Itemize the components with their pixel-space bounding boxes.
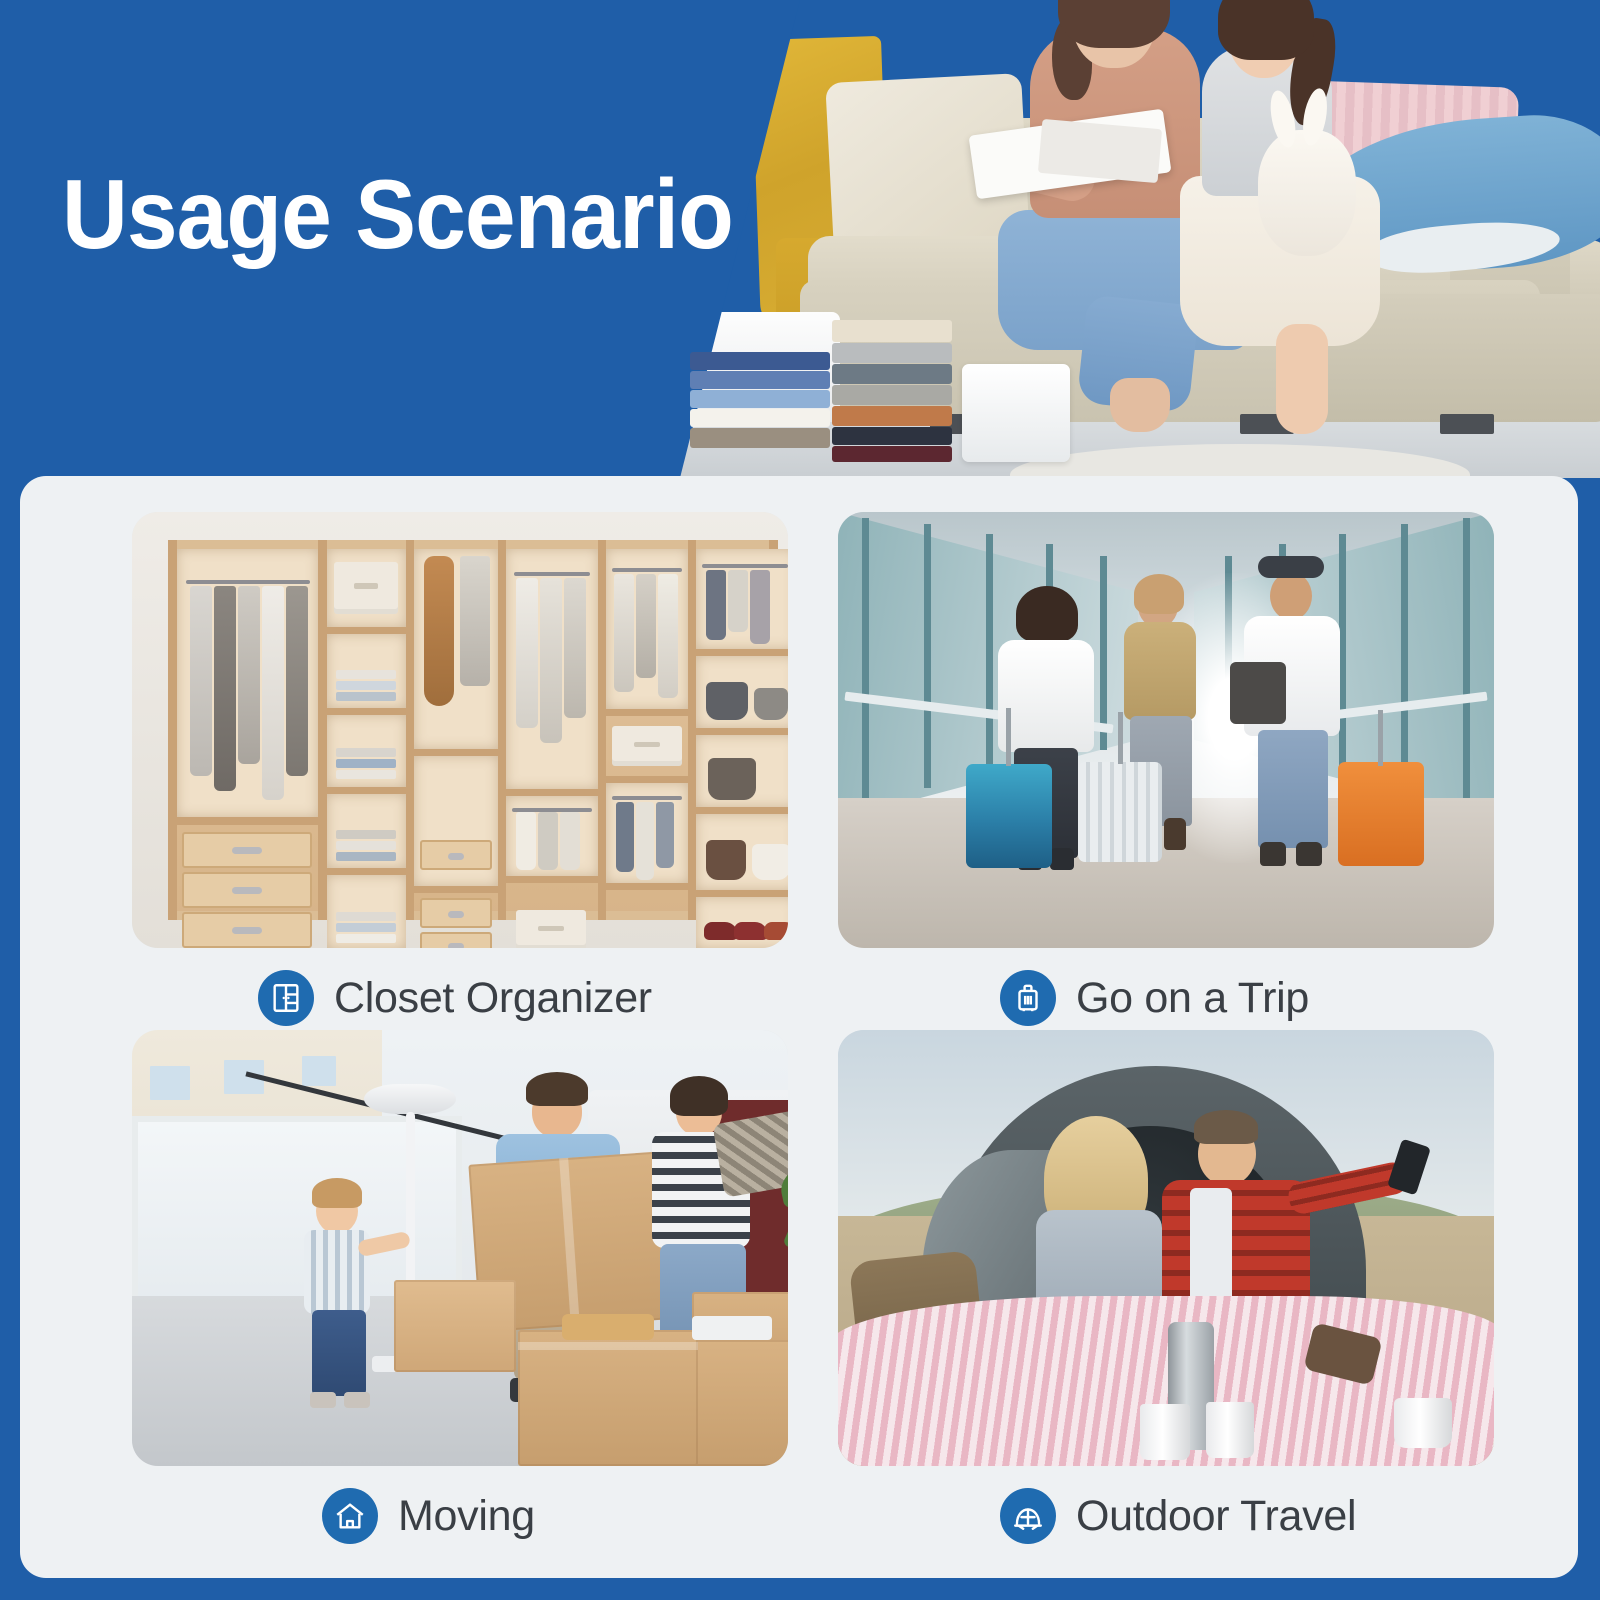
scenario-label: Closet Organizer (334, 973, 652, 1023)
suitcase-silver (1078, 762, 1162, 862)
mother-foot (1110, 378, 1170, 432)
closet-frame (168, 540, 778, 920)
metal-cup (1206, 1402, 1254, 1458)
scenario-label: Go on a Trip (1076, 973, 1309, 1023)
scenario-panel: Closet Organizer (20, 476, 1578, 1578)
sofa-foot (1440, 414, 1494, 434)
scenario-card-moving[interactable]: Moving (112, 1030, 792, 1500)
house-icon (322, 1488, 378, 1544)
scenario-card-go-on-a-trip[interactable]: Go on a Trip (818, 512, 1498, 982)
go-on-a-trip-caption: Go on a Trip (1000, 970, 1498, 1026)
wooden-toy (562, 1314, 654, 1340)
closet-scene (132, 512, 788, 948)
suitcase-icon (1000, 970, 1056, 1026)
scenario-card-closet-organizer[interactable]: Closet Organizer (112, 512, 792, 982)
cardboard-box (518, 1330, 698, 1466)
cardboard-box (394, 1280, 516, 1372)
go-on-a-trip-photo (838, 512, 1494, 948)
bunny-plush (1258, 130, 1356, 256)
scenario-label: Outdoor Travel (1076, 1491, 1356, 1541)
metal-cup (1140, 1404, 1190, 1460)
book-page (1038, 119, 1162, 183)
airport-corridor-scene (838, 512, 1494, 948)
scenario-label: Moving (398, 1491, 535, 1541)
floor-lamp-shade (364, 1084, 456, 1114)
child-hair (1218, 0, 1314, 60)
mother-hair (1058, 0, 1170, 48)
folded-shirt-stack-right (832, 320, 952, 462)
camping-scene (838, 1030, 1494, 1466)
folded-linen (692, 1316, 772, 1340)
vacuum-bag-stack (962, 364, 1070, 462)
tent-icon (1000, 1488, 1056, 1544)
closet-organizer-photo (132, 512, 788, 948)
child-leg (1276, 324, 1328, 434)
suitcase-orange (1338, 762, 1424, 866)
moving-photo (132, 1030, 788, 1466)
closet-organizer-caption: Closet Organizer (258, 970, 792, 1026)
folded-clothes (680, 400, 690, 422)
moving-caption: Moving (322, 1488, 792, 1544)
outdoor-travel-photo (838, 1030, 1494, 1466)
moving-scene (132, 1030, 788, 1466)
enamel-mug (1394, 1398, 1452, 1448)
wardrobe-icon (258, 970, 314, 1026)
scenario-card-outdoor-travel[interactable]: Outdoor Travel (818, 1030, 1498, 1500)
page-title: Usage Scenario (62, 160, 733, 268)
outdoor-travel-caption: Outdoor Travel (1000, 1488, 1498, 1544)
suitcase-blue (966, 764, 1052, 868)
scenario-grid: Closet Organizer (20, 476, 1578, 1578)
folded-shirt-stack-left (690, 352, 830, 460)
